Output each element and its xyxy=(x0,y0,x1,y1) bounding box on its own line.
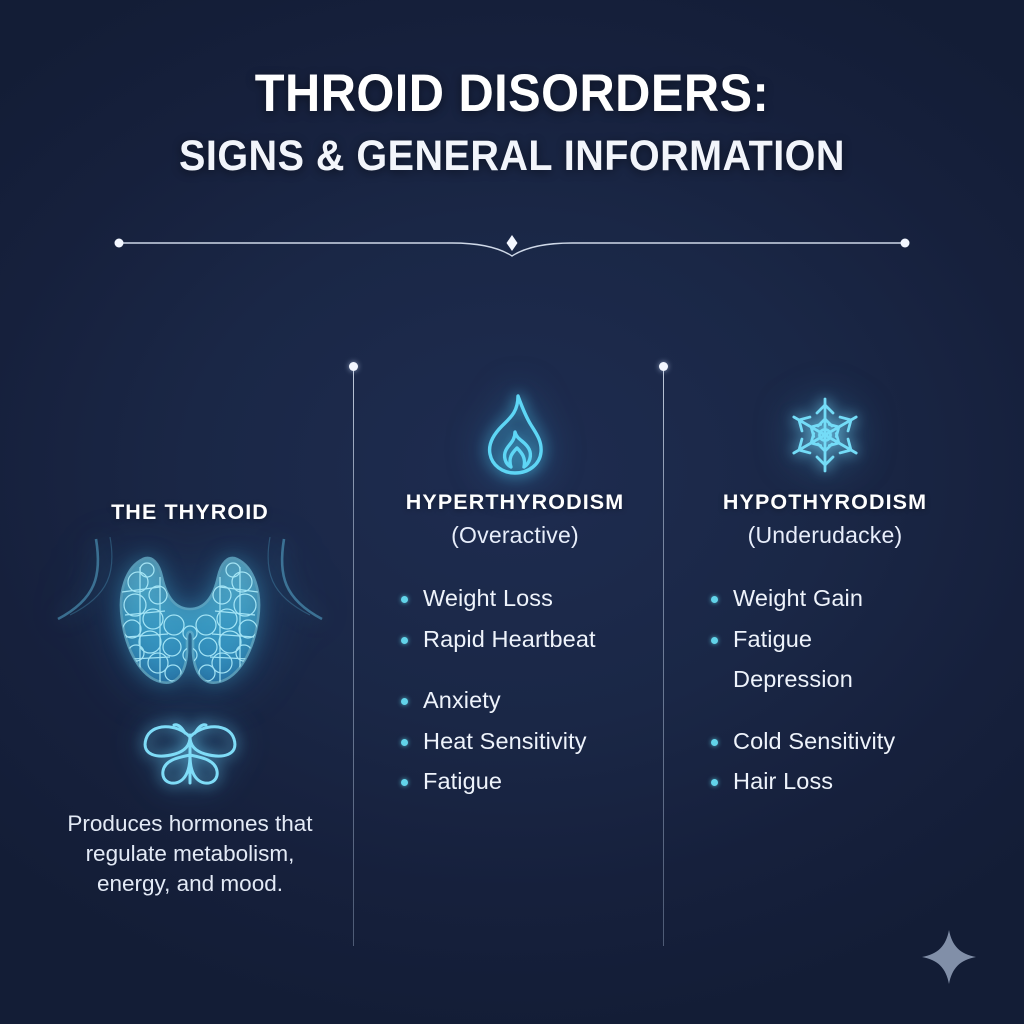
symptom-item: Fatigue xyxy=(690,628,960,652)
symptom-item: Depression xyxy=(690,668,960,692)
column-divider-left xyxy=(353,368,354,946)
flame-icon xyxy=(477,392,553,478)
hypothyroidism-subheading: (Underudacke) xyxy=(690,522,960,549)
page-subtitle: SIGNS & GENERAL INFORMATION xyxy=(41,133,983,180)
page-title: THROID DISORDERS: xyxy=(41,66,983,122)
snowflake-icon xyxy=(783,392,867,478)
hypothyroidism-heading: HYPOTHYRODISM xyxy=(690,490,960,515)
column-thyroid: THE THYROID xyxy=(40,500,340,899)
thyroid-description: Produces hormones that regulate metaboli… xyxy=(40,809,340,899)
symptom-item: Rapid Heartbeat xyxy=(380,628,650,652)
infographic-page: THROID DISORDERS: SIGNS & GENERAL INFORM… xyxy=(0,0,1024,1024)
hyperthyroidism-icon-wrap xyxy=(380,380,650,490)
four-point-star-icon xyxy=(920,928,978,986)
diamond-ornament-icon xyxy=(112,222,912,264)
symptom-item: Fatigue xyxy=(380,770,650,794)
symptom-item: Weight Loss xyxy=(380,587,650,611)
thyroid-gland-illustration xyxy=(40,537,340,717)
hyperthyroidism-subheading: (Overactive) xyxy=(380,522,650,549)
column-divider-right xyxy=(663,368,664,946)
symptom-item: Anxiety xyxy=(380,689,650,713)
hypothyroidism-symptom-list: Weight GainFatigueDepressionCold Sensiti… xyxy=(690,587,960,794)
hyperthyroidism-heading: HYPERTHYRODISM xyxy=(380,490,650,515)
column-hyperthyroidism: HYPERTHYRODISM (Overactive) Weight LossR… xyxy=(380,380,650,811)
symptom-item: Cold Sensitivity xyxy=(690,730,960,754)
symptom-item: Hair Loss xyxy=(690,770,960,794)
butterfly-illustration xyxy=(40,719,340,797)
symptom-item: Weight Gain xyxy=(690,587,960,611)
symptom-item: Heat Sensitivity xyxy=(380,730,650,754)
column-hypothyroidism: HYPOTHYRODISM (Underudacke) Weight GainF… xyxy=(690,380,960,811)
thyroid-heading: THE THYROID xyxy=(40,500,340,525)
watermark xyxy=(920,928,978,986)
butterfly-icon xyxy=(135,721,245,795)
hypothyroidism-icon-wrap xyxy=(690,380,960,490)
page-header: THROID DISORDERS: SIGNS & GENERAL INFORM… xyxy=(0,66,1024,180)
ornamental-divider xyxy=(112,222,912,264)
hyperthyroidism-symptom-list: Weight LossRapid HeartbeatAnxietyHeat Se… xyxy=(380,587,650,794)
thyroid-gland-icon xyxy=(40,537,340,717)
